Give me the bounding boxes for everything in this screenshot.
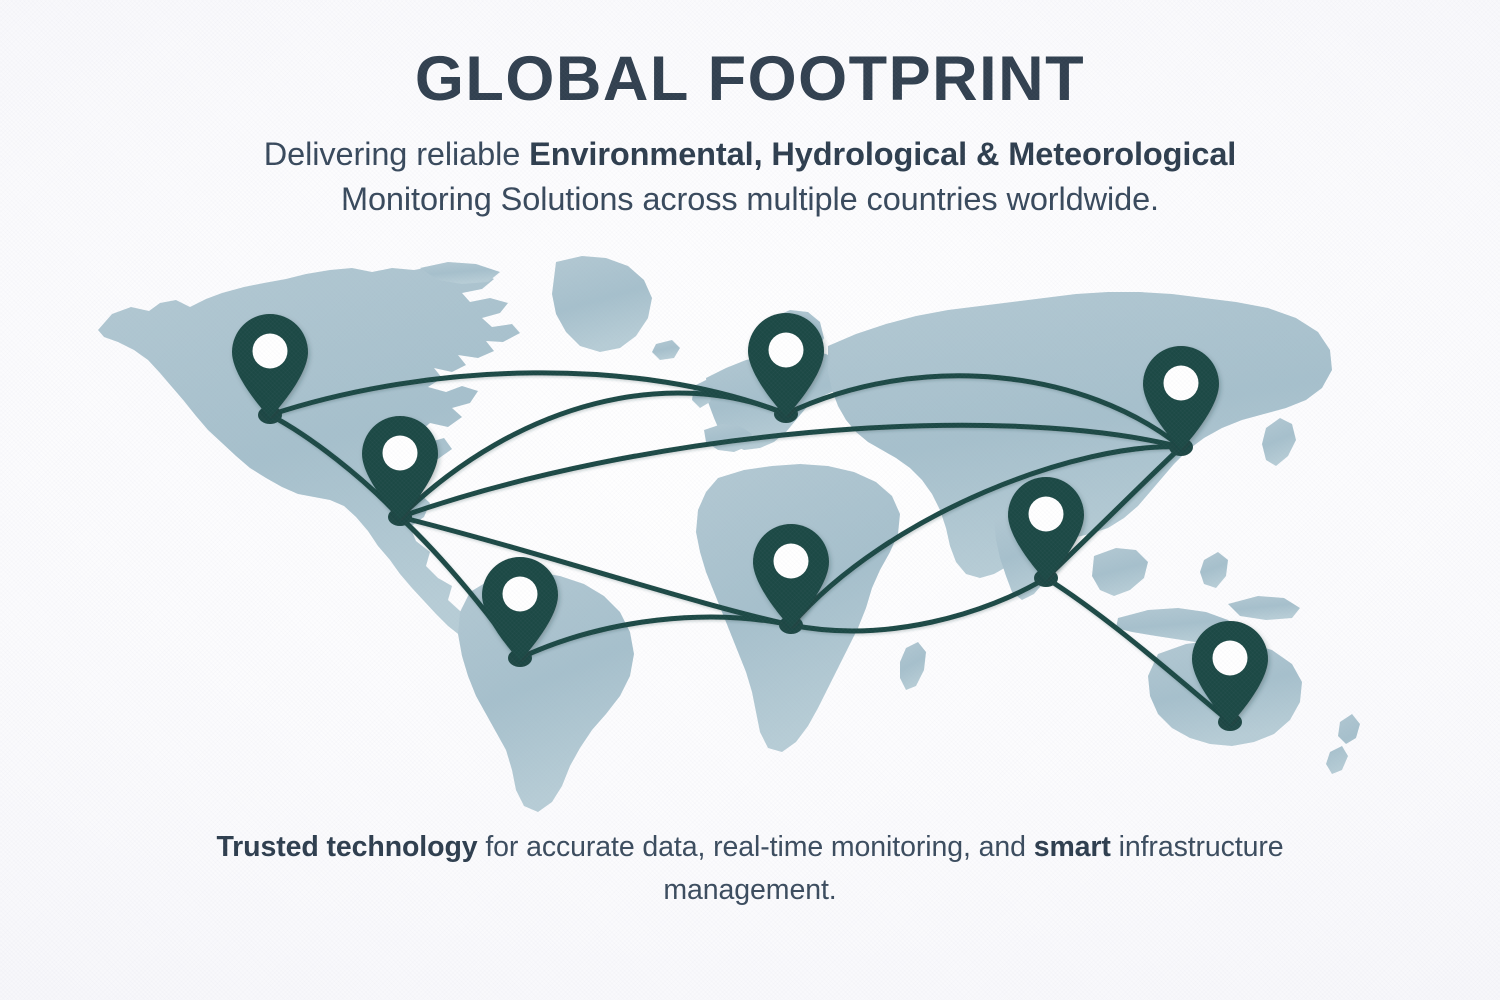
poster-subtitle: Delivering reliable Environmental, Hydro… (0, 132, 1500, 222)
landmass-papua (1228, 596, 1300, 620)
global-footprint-poster: GLOBAL FOOTPRINT Delivering reliable Env… (0, 0, 1500, 1000)
footer-mid-text: for accurate data, real-time monitoring,… (478, 831, 1034, 863)
subtitle-line-2: Monitoring Solutions across multiple cou… (0, 177, 1500, 222)
page-title: GLOBAL FOOTPRINT (0, 46, 1500, 112)
landmass-north-america (98, 266, 520, 663)
map-pin-inner-dot (1029, 497, 1064, 532)
map-pin-inner-dot (503, 577, 538, 612)
footer-tail-text: infrastructure (1111, 831, 1284, 863)
landmass-new-zealand (1326, 714, 1360, 774)
poster-header: GLOBAL FOOTPRINT Delivering reliable Env… (0, 0, 1500, 222)
landmass-iceland (652, 340, 680, 360)
landmass-japan (1262, 418, 1296, 466)
map-pin-inner-dot (769, 333, 804, 368)
landmass-southeast-asia (1092, 548, 1148, 596)
subtitle-lead-text: Delivering reliable (264, 136, 529, 172)
poster-footer: Trusted technology for accurate data, re… (0, 826, 1500, 913)
footer-line-2: management. (663, 874, 836, 906)
map-pin-inner-dot (1164, 366, 1199, 401)
footer-bold-mid: smart (1034, 831, 1111, 863)
landmass-philippines (1200, 552, 1228, 588)
subtitle-line-1: Delivering reliable Environmental, Hydro… (0, 132, 1500, 177)
subtitle-emphasis-text: Environmental, Hydrological & Meteorolog… (529, 136, 1236, 172)
map-pin-inner-dot (253, 334, 288, 369)
map-pin-inner-dot (383, 436, 418, 471)
landmass-madagascar (900, 642, 926, 690)
landmass-greenland (552, 256, 652, 352)
map-pin-inner-dot (1213, 641, 1248, 676)
footer-bold-lead: Trusted technology (216, 831, 477, 863)
footer-line-1: Trusted technology for accurate data, re… (216, 831, 1283, 863)
map-pin-inner-dot (774, 544, 809, 579)
